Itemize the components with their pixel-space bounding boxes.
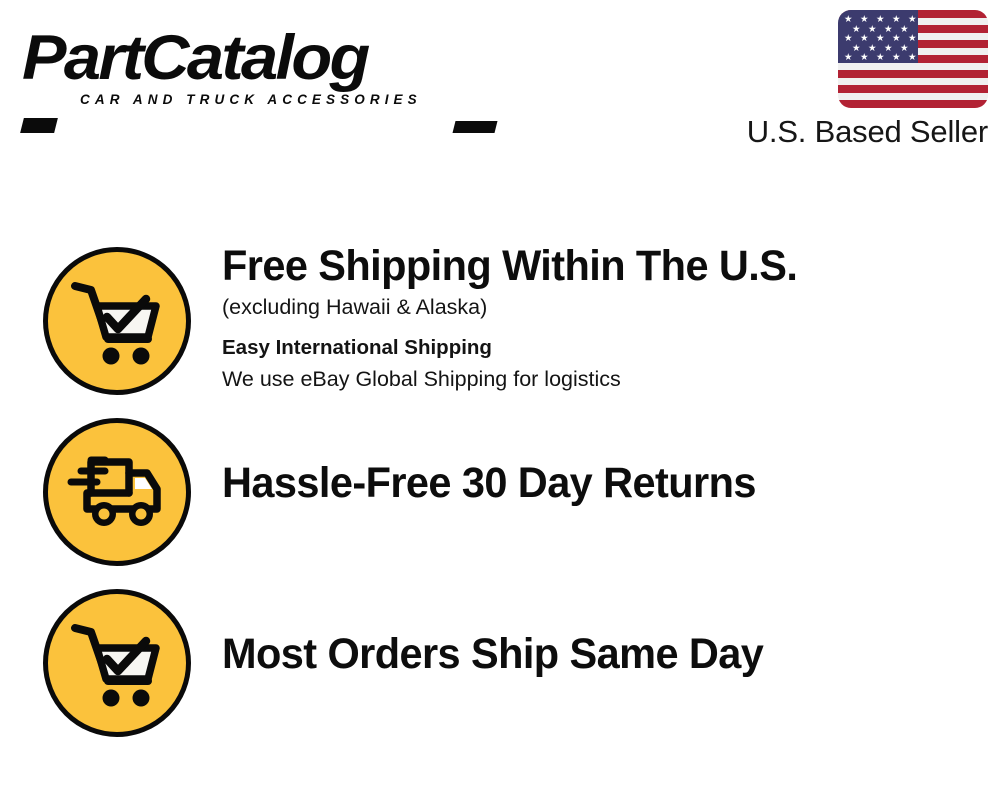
feature-heading: Hassle-Free 30 Day Returns [222,458,953,508]
logo-accent-bar-right [453,121,498,133]
logo-tagline: CAR AND TRUCK ACCESSORIES [80,92,492,107]
shopping-cart-check-icon [43,247,191,395]
feature-text-free-shipping: Free Shipping Within The U.S. (excluding… [222,241,980,394]
delivery-truck-icon [43,418,191,566]
flag-star: ★ [908,34,917,44]
us-flag-icon: ★★★★★★★★★★★★★★★★★★★★★★★ [838,10,988,108]
feature-sub-heading: Easy International Shipping [222,333,980,363]
feature-row-same-day-ship: Most Orders Ship Same Day [0,577,1000,748]
flag-star: ★ [876,53,885,63]
shopping-cart-check-icon [43,589,191,737]
flag-star: ★ [844,53,853,63]
feature-heading: Most Orders Ship Same Day [222,629,953,679]
feature-text-same-day-ship: Most Orders Ship Same Day [222,629,980,679]
feature-row-returns: Hassle-Free 30 Day Returns [0,406,1000,577]
us-based-seller-label: U.S. Based Seller [747,114,988,150]
feature-sub-text: We use eBay Global Shipping for logistic… [222,364,980,394]
logo-wordmark: PartCatalog [22,26,520,90]
feature-list: Free Shipping Within The U.S. (excluding… [0,235,1000,748]
feature-row-free-shipping: Free Shipping Within The U.S. (excluding… [0,235,1000,406]
flag-star: ★ [908,53,917,63]
flag-star: ★ [908,15,917,25]
logo-accent-bar-left [20,118,58,133]
flag-star: ★ [892,53,901,63]
feature-text-returns: Hassle-Free 30 Day Returns [222,458,980,508]
flag-canton: ★★★★★★★★★★★★★★★★★★★★★★★ [838,10,918,63]
flag-star: ★ [860,53,869,63]
us-based-seller-badge: ★★★★★★★★★★★★★★★★★★★★★★★ U.S. Based Selle… [747,10,988,150]
brand-logo[interactable]: PartCatalog CAR AND TRUCK ACCESSORIES [22,26,492,107]
feature-sub-note: (excluding Hawaii & Alaska) [222,292,980,322]
flag-stripe [838,100,988,108]
page-header: PartCatalog CAR AND TRUCK ACCESSORIES ★★… [0,0,1000,175]
feature-heading: Free Shipping Within The U.S. [222,241,953,291]
